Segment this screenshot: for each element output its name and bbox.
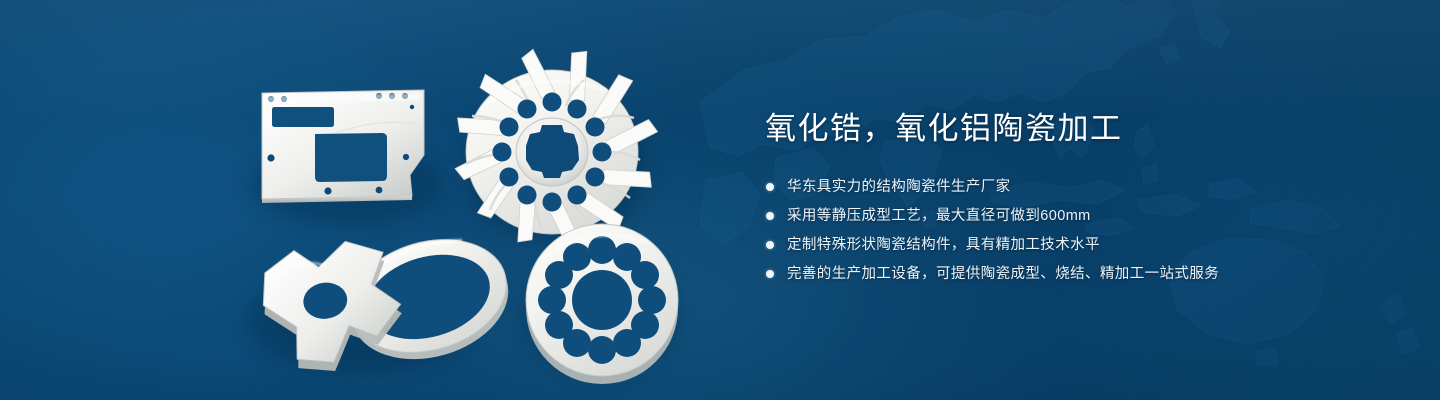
feature-text: 华东具实力的结构陶瓷件生产厂家 [787,179,1011,195]
feature-text: 完善的生产加工设备，可提供陶瓷成型、烧结、精加工一站式服务 [787,266,1219,282]
product-photo [0,0,740,400]
feature-text: 采用等静压成型工艺，最大直径可做到600mm [787,208,1091,224]
feature-list-item: 采用等静压成型工艺，最大直径可做到600mm [765,205,1365,227]
banner-headline: 氧化锆，氧化铝陶瓷加工 [765,108,1365,150]
feature-text: 定制特殊形状陶瓷结构件，具有精加工技术水平 [787,237,1100,253]
bullet-dot-icon [766,183,774,191]
bullet-dot-icon [766,270,774,278]
feature-list-item: 完善的生产加工设备，可提供陶瓷成型、烧结、精加工一站式服务 [765,263,1365,285]
bullet-dot-icon [766,212,774,220]
banner-copy: 氧化锆，氧化铝陶瓷加工 华东具实力的结构陶瓷件生产厂家 采用等静压成型工艺，最大… [765,108,1365,292]
feature-list: 华东具实力的结构陶瓷件生产厂家 采用等静压成型工艺，最大直径可做到600mm 定… [765,176,1365,285]
bullet-dot-icon [766,241,774,249]
feature-list-item: 华东具实力的结构陶瓷件生产厂家 [765,176,1365,198]
feature-list-item: 定制特殊形状陶瓷结构件，具有精加工技术水平 [765,234,1365,256]
hero-banner: 氧化锆，氧化铝陶瓷加工 华东具实力的结构陶瓷件生产厂家 采用等静压成型工艺，最大… [0,0,1440,400]
